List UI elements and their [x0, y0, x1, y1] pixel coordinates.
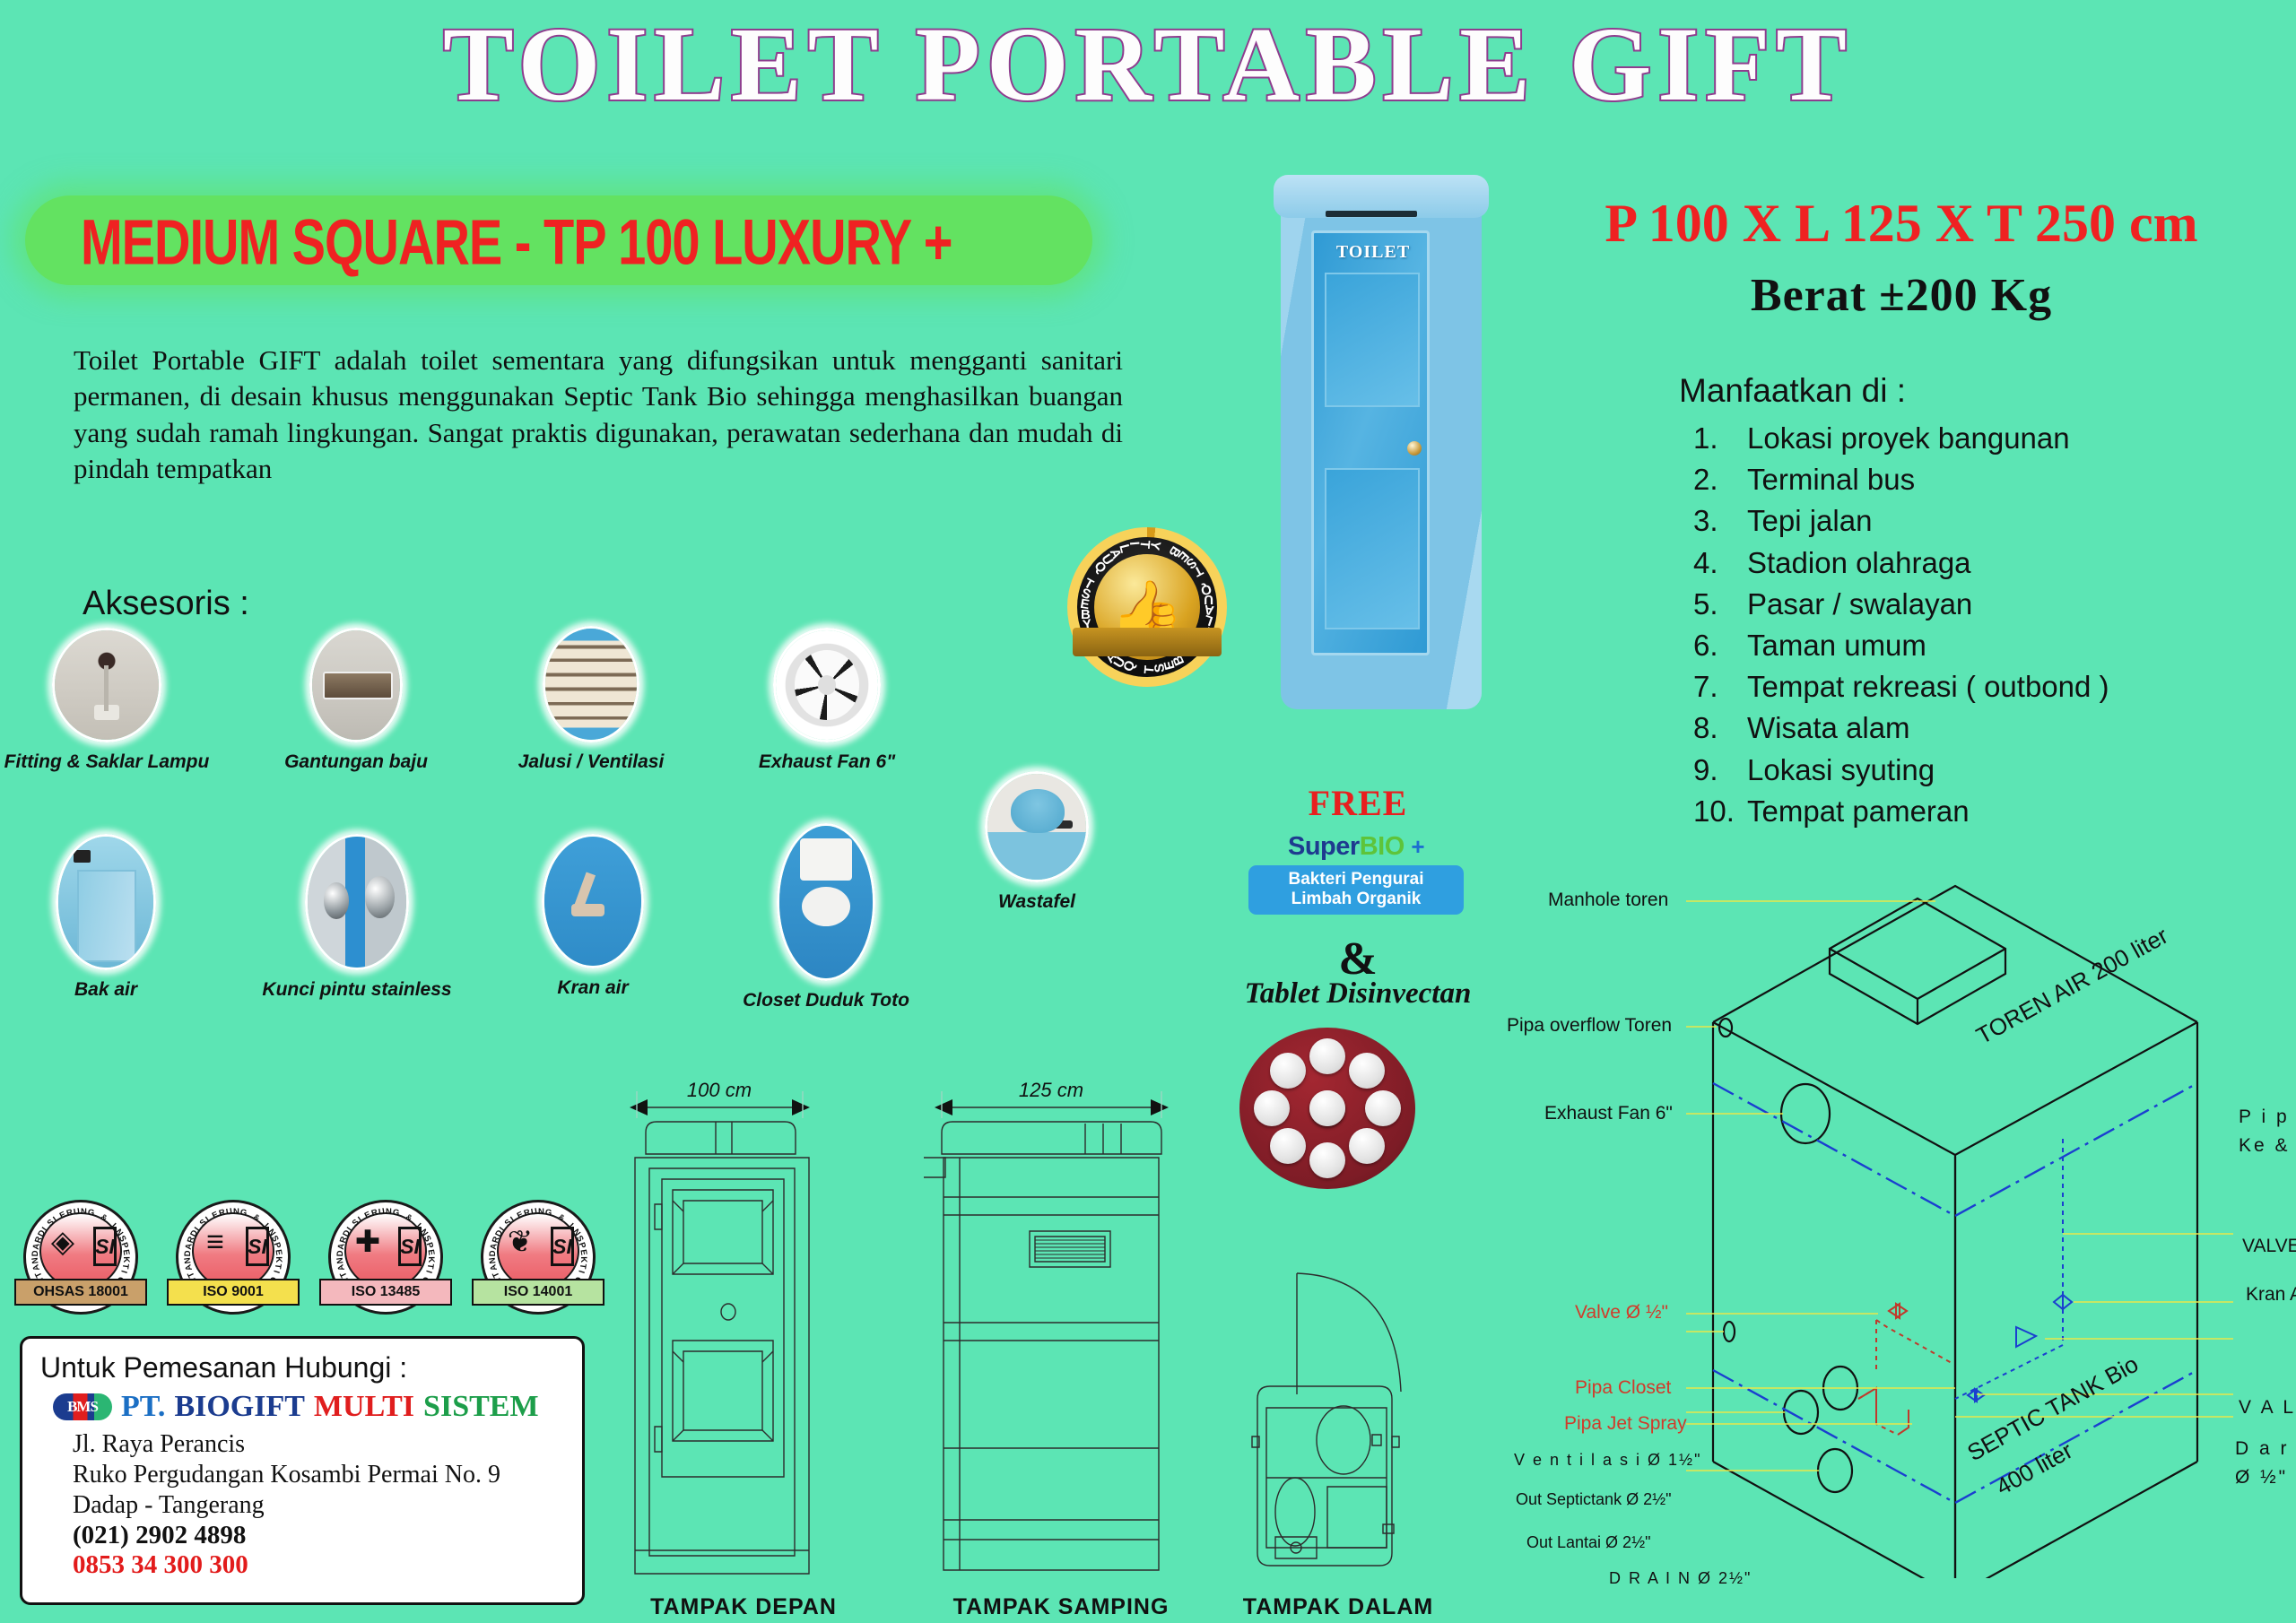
- accessory-caption: Exhaust Fan 6": [759, 751, 895, 773]
- accessory-item-door-lock: Kunci pintu stainless: [305, 834, 409, 970]
- accessory-caption: Wastafel: [998, 891, 1075, 913]
- contact-phone: (021) 2902 4898: [73, 1521, 564, 1550]
- accessory-item-water-tub: Bak air: [56, 834, 156, 970]
- list-item: 3.Tepi jalan: [1693, 500, 2267, 542]
- door-knob-icon: [1407, 441, 1422, 456]
- exhaust-fan-photo: [773, 628, 881, 742]
- list-item: 4.Stadion olahraga: [1693, 542, 2267, 584]
- accessory-item-exhaust-fan: Exhaust Fan 6": [773, 628, 881, 742]
- certification-badge-ohsas: STANDARDISIERUNG & INSPEKTION ◈ SI OHSAS…: [23, 1200, 138, 1315]
- accessory-item-washbasin: Wastafel: [985, 771, 1089, 882]
- schematic-isometric-diagram: TOREN AIR 200 liter SEPTIC TANK Bio 400 …: [1686, 843, 2296, 1578]
- weight-label: Berat ±200 Kg: [1525, 269, 2278, 322]
- list-item: 10.Tempat pameran: [1693, 791, 2267, 832]
- schematic-label-diameter-half: Ø ½": [2235, 1467, 2288, 1488]
- accessory-item-faucet: Kran air: [542, 834, 644, 968]
- schematic-label-out-septictank: Out Septictank Ø 2½": [1516, 1490, 1671, 1509]
- product-photo: TOILET: [1274, 175, 1489, 713]
- accessory-item-fitting: Fitting & Saklar Lampu: [52, 628, 161, 742]
- schematic-label-pipa-jet-spray: Pipa Jet Spray: [1564, 1413, 1687, 1435]
- benefits-list: 1.Lokasi proyek bangunan 2.Terminal bus …: [1693, 418, 2267, 832]
- list-item: 2.Terminal bus: [1693, 459, 2267, 500]
- schematic-label-out-lantai: Out Lantai Ø 2½": [1526, 1533, 1650, 1552]
- drawing-caption-inside: TAMPAK DALAM: [1231, 1594, 1446, 1620]
- hanger-photo: [309, 628, 403, 742]
- badge-ribbon: [1073, 628, 1222, 656]
- certification-badge-iso13485: STANDARDISIERUNG & INSPEKTION ✚ SI ISO 1…: [328, 1200, 443, 1315]
- list-item: 1.Lokasi proyek bangunan: [1693, 418, 2267, 459]
- page-title: TOILET PORTABLE GIFT: [0, 4, 2296, 126]
- accessory-caption: Jalusi / Ventilasi: [518, 751, 665, 773]
- medical-cross-icon: ✚: [353, 1227, 382, 1268]
- schematic-label-valve-left: Valve Ø ½": [1575, 1302, 1668, 1324]
- superbio-tagline: Bakteri Pengurai Limbah Organik: [1248, 865, 1464, 915]
- accessory-item-hanger: Gantungan baju: [309, 628, 403, 742]
- contact-address-line1: Jl. Raya Perancis: [73, 1429, 564, 1460]
- free-label: FREE: [1277, 782, 1439, 824]
- door-panel-bottom: [1325, 468, 1420, 629]
- list-item: 6.Taman umum: [1693, 625, 2267, 666]
- si-mark-icon: SI: [93, 1227, 117, 1266]
- schematic-label-manhole: Manhole toren: [1548, 890, 1668, 911]
- bak-air-photo: [56, 834, 156, 970]
- accessory-item-toilet-seat: Closet Duduk Toto: [777, 823, 875, 981]
- list-item: 8.Wisata alam: [1693, 707, 2267, 749]
- schematic-label-valve-lower: V A L V E Ø ½": [2239, 1397, 2296, 1419]
- kran-air-photo: [542, 834, 644, 968]
- closet-duduk-photo: [777, 823, 875, 981]
- dimensions-label: P 100 X L 125 X T 250 cm: [1525, 193, 2278, 255]
- schematic-label-drain: D R A I N Ø 2½": [1609, 1569, 1752, 1588]
- fitting-photo: [52, 628, 161, 742]
- drawing-caption-side: TAMPAK SAMPING: [949, 1594, 1173, 1620]
- list-item: 5.Pasar / swalayan: [1693, 584, 2267, 625]
- tablet-label: Tablet Disinvectan: [1205, 977, 1510, 1011]
- wastafel-photo: [985, 771, 1089, 882]
- accessories-heading: Aksesoris :: [83, 585, 249, 623]
- best-quality-badge: BEST QUALITY BEST QUALITY BEST QUALITY 👍: [1067, 527, 1227, 687]
- shield-icon: ◈: [48, 1227, 77, 1268]
- plus-icon: +: [1411, 833, 1424, 860]
- model-name-label: MEDIUM SQUARE - TP 100 LUXURY +: [81, 199, 1067, 284]
- si-mark-icon: SI: [246, 1227, 269, 1266]
- jalusi-photo: [543, 626, 639, 742]
- product-door: TOILET: [1311, 230, 1430, 655]
- tablet-pill: [1309, 1038, 1345, 1074]
- contact-box: Untuk Pemesanan Hubungi : BMS PT.BIOGIFT…: [20, 1336, 585, 1605]
- schematic-label-ke-dari-toren: Ke & d a r i t o r e n: [2239, 1135, 2296, 1157]
- schematic-label-ventilasi: V e n t i l a s i Ø 1½": [1514, 1451, 1701, 1470]
- benefits-heading: Manfaatkan di :: [1679, 372, 1906, 410]
- schematic-label-pipa-half: P i p a Ø ½": [2239, 1107, 2296, 1128]
- superbio-logo: SuperBIO + Bakteri Pengurai Limbah Organ…: [1248, 832, 1464, 915]
- drawing-caption-front: TAMPAK DEPAN: [640, 1594, 847, 1620]
- schematic-label-valve-right: VALVE Ø ½": [2242, 1236, 2296, 1257]
- kunci-pintu-photo: [305, 834, 409, 970]
- bars-icon: ≡: [201, 1227, 230, 1268]
- contact-address-line3: Dadap - Tangerang: [73, 1490, 564, 1521]
- list-item: 9.Lokasi syuting: [1693, 750, 2267, 791]
- contact-address-line2: Ruko Pergudangan Kosambi Permai No. 9: [73, 1460, 564, 1490]
- schematic-label-toren: TOREN AIR 200 liter: [1971, 922, 2172, 1049]
- accessory-caption: Kunci pintu stainless: [262, 979, 451, 1001]
- schematic-label-kran-air: Kran Air: [2246, 1284, 2296, 1306]
- door-panel-top: [1325, 273, 1420, 407]
- cert-label: ISO 14001: [472, 1279, 604, 1306]
- accessory-caption: Closet Duduk Toto: [743, 990, 909, 1011]
- drawing-dimension-label: 125 cm: [1019, 1079, 1083, 1101]
- superbio-wordmark: SuperBIO +: [1248, 832, 1464, 862]
- schematic-label-pipa-closet: Pipa Closet: [1575, 1377, 1671, 1399]
- accessory-item-louver: Jalusi / Ventilasi: [543, 626, 639, 742]
- schematic-label-dari-sumber: D a r i s u m b e r a i r: [2235, 1438, 2296, 1460]
- contact-mobile: 0853 34 300 300: [73, 1550, 564, 1580]
- product-description: Toilet Portable GIFT adalah toilet semen…: [74, 343, 1123, 487]
- drawing-tampak-dalam: [1229, 1255, 1480, 1605]
- leaf-icon: ❦: [506, 1227, 535, 1268]
- accessory-caption: Gantungan baju: [284, 751, 428, 773]
- accessory-caption: Fitting & Saklar Lampu: [4, 751, 210, 773]
- drawing-dimension-label: 100 cm: [687, 1079, 752, 1101]
- schematic-label-overflow: Pipa overflow Toren: [1507, 1015, 1672, 1037]
- company-name: BMS PT.BIOGIFTMULTISISTEM: [53, 1390, 564, 1424]
- si-mark-icon: SI: [551, 1227, 574, 1266]
- cert-label: ISO 13485: [319, 1279, 452, 1306]
- si-mark-icon: SI: [398, 1227, 422, 1266]
- contact-heading: Untuk Pemesanan Hubungi :: [40, 1351, 564, 1384]
- product-roof-vent: [1326, 211, 1417, 217]
- cert-label: OHSAS 18001: [14, 1279, 147, 1306]
- accessory-caption: Bak air: [74, 979, 137, 1001]
- list-item: 7.Tempat rekreasi ( outbond ): [1693, 666, 2267, 707]
- cert-label: ISO 9001: [167, 1279, 300, 1306]
- accessory-caption: Kran air: [557, 977, 628, 999]
- certification-badge-iso9001: STANDARDISIERUNG & INSPEKTION ≡ SI ISO 9…: [176, 1200, 291, 1315]
- certification-badge-iso14001: STANDARDISIERUNG & INSPEKTION ❦ SI ISO 1…: [481, 1200, 596, 1315]
- product-door-text: TOILET: [1314, 242, 1432, 263]
- schematic-label-exhaust-fan: Exhaust Fan 6": [1544, 1103, 1673, 1124]
- bms-logo-icon: BMS: [53, 1393, 112, 1420]
